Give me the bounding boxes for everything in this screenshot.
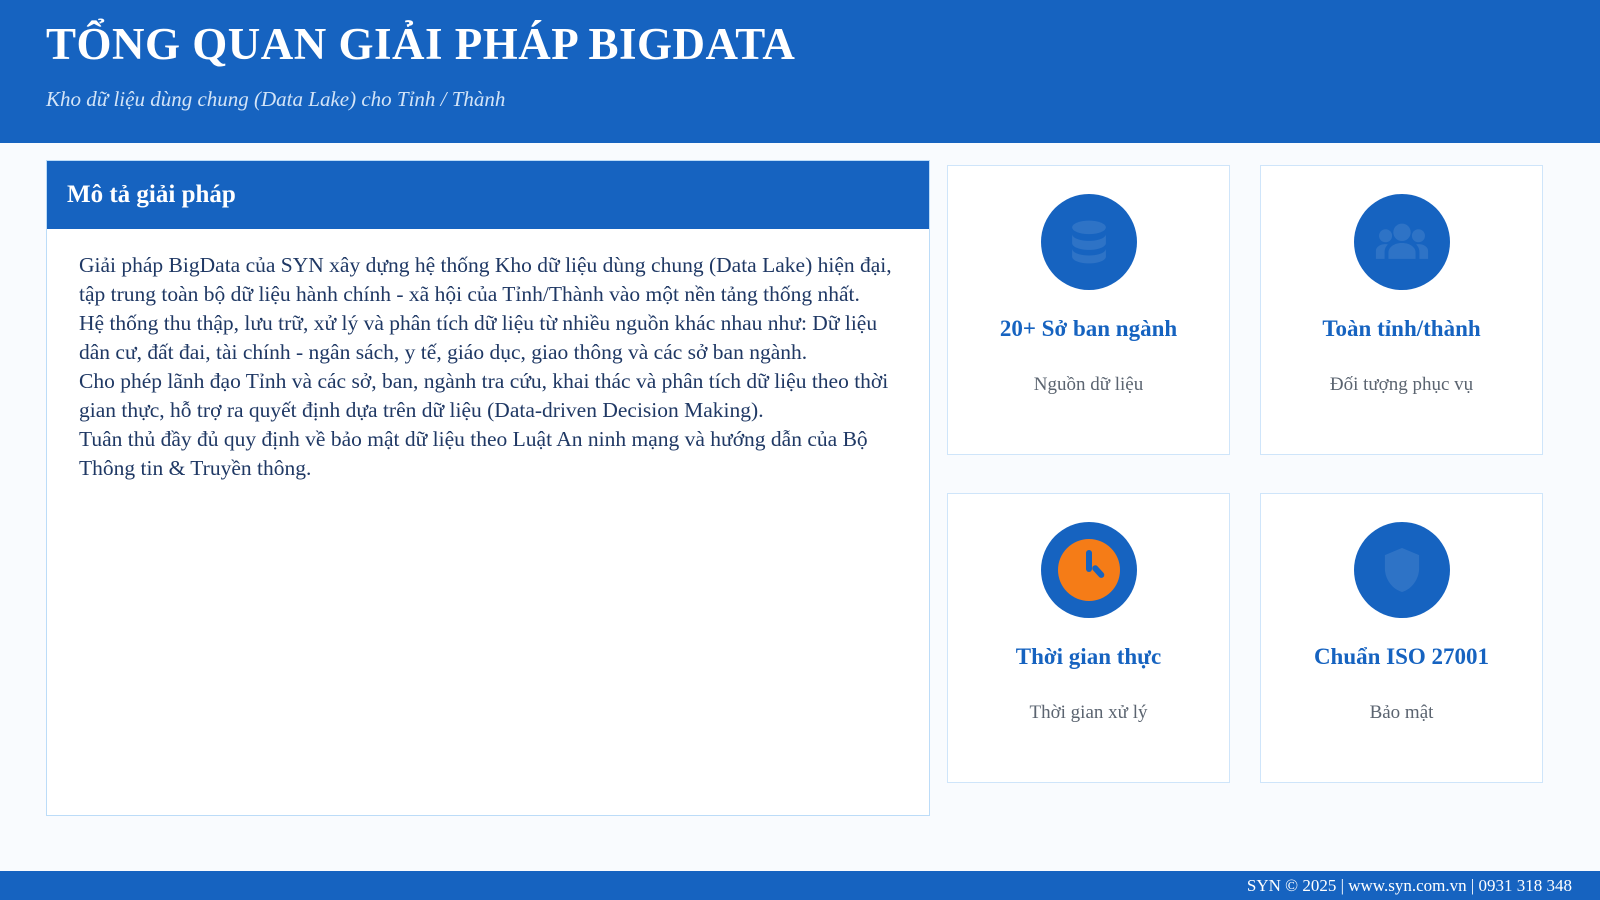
description-paragraph: Giải pháp BigData của SYN xây dựng hệ th… [79, 251, 901, 309]
page-subtitle: Kho dữ liệu dùng chung (Data Lake) cho T… [46, 87, 1600, 112]
stat-card-value: Chuẩn ISO 27001 [1314, 644, 1489, 670]
stat-card-value: Thời gian thực [1016, 644, 1161, 670]
stat-card-label: Bảo mật [1370, 702, 1434, 724]
description-panel-header: Mô tả giải pháp [47, 161, 929, 229]
description-paragraph: Hệ thống thu thập, lưu trữ, xử lý và phâ… [79, 309, 901, 367]
clock-icon [1041, 522, 1137, 618]
page-header: TỔNG QUAN GIẢI PHÁP BIGDATA Kho dữ liệu … [0, 0, 1600, 143]
description-panel-title: Mô tả giải pháp [67, 181, 236, 209]
stat-card-label: Đối tượng phục vụ [1330, 374, 1473, 396]
stat-card-security-standard[interactable]: Chuẩn ISO 27001 Bảo mật [1260, 493, 1543, 783]
shield-lock-icon [1354, 522, 1450, 618]
users-icon [1354, 194, 1450, 290]
solution-description-panel: Mô tả giải pháp Giải pháp BigData của SY… [46, 160, 930, 816]
stat-card-label: Thời gian xử lý [1030, 702, 1148, 724]
footer-text: SYN © 2025 | www.syn.com.vn | 0931 318 3… [1247, 876, 1572, 896]
stat-card-service-scope[interactable]: Toàn tỉnh/thành Đối tượng phục vụ [1260, 165, 1543, 455]
stat-card-data-sources[interactable]: 20+ Sở ban ngành Nguồn dữ liệu [947, 165, 1230, 455]
stat-cards-grid: 20+ Sở ban ngành Nguồn dữ liệu Toàn tỉnh… [947, 165, 1547, 783]
clock-minute-hand [1091, 564, 1105, 579]
description-paragraph: Cho phép lãnh đạo Tỉnh và các sở, ban, n… [79, 367, 901, 425]
description-panel-body: Giải pháp BigData của SYN xây dựng hệ th… [47, 229, 929, 483]
stat-card-label: Nguồn dữ liệu [1034, 374, 1144, 396]
page-footer: SYN © 2025 | www.syn.com.vn | 0931 318 3… [0, 871, 1600, 900]
description-paragraph: Tuân thủ đầy đủ quy định về bảo mật dữ l… [79, 425, 901, 483]
stat-card-value: Toàn tỉnh/thành [1322, 316, 1480, 342]
clock-face [1058, 539, 1120, 601]
page-title: TỔNG QUAN GIẢI PHÁP BIGDATA [46, 18, 1600, 71]
stat-card-processing-time[interactable]: Thời gian thực Thời gian xử lý [947, 493, 1230, 783]
database-icon [1041, 194, 1137, 290]
clock-hour-hand [1086, 550, 1092, 572]
stat-card-value: 20+ Sở ban ngành [1000, 316, 1177, 342]
